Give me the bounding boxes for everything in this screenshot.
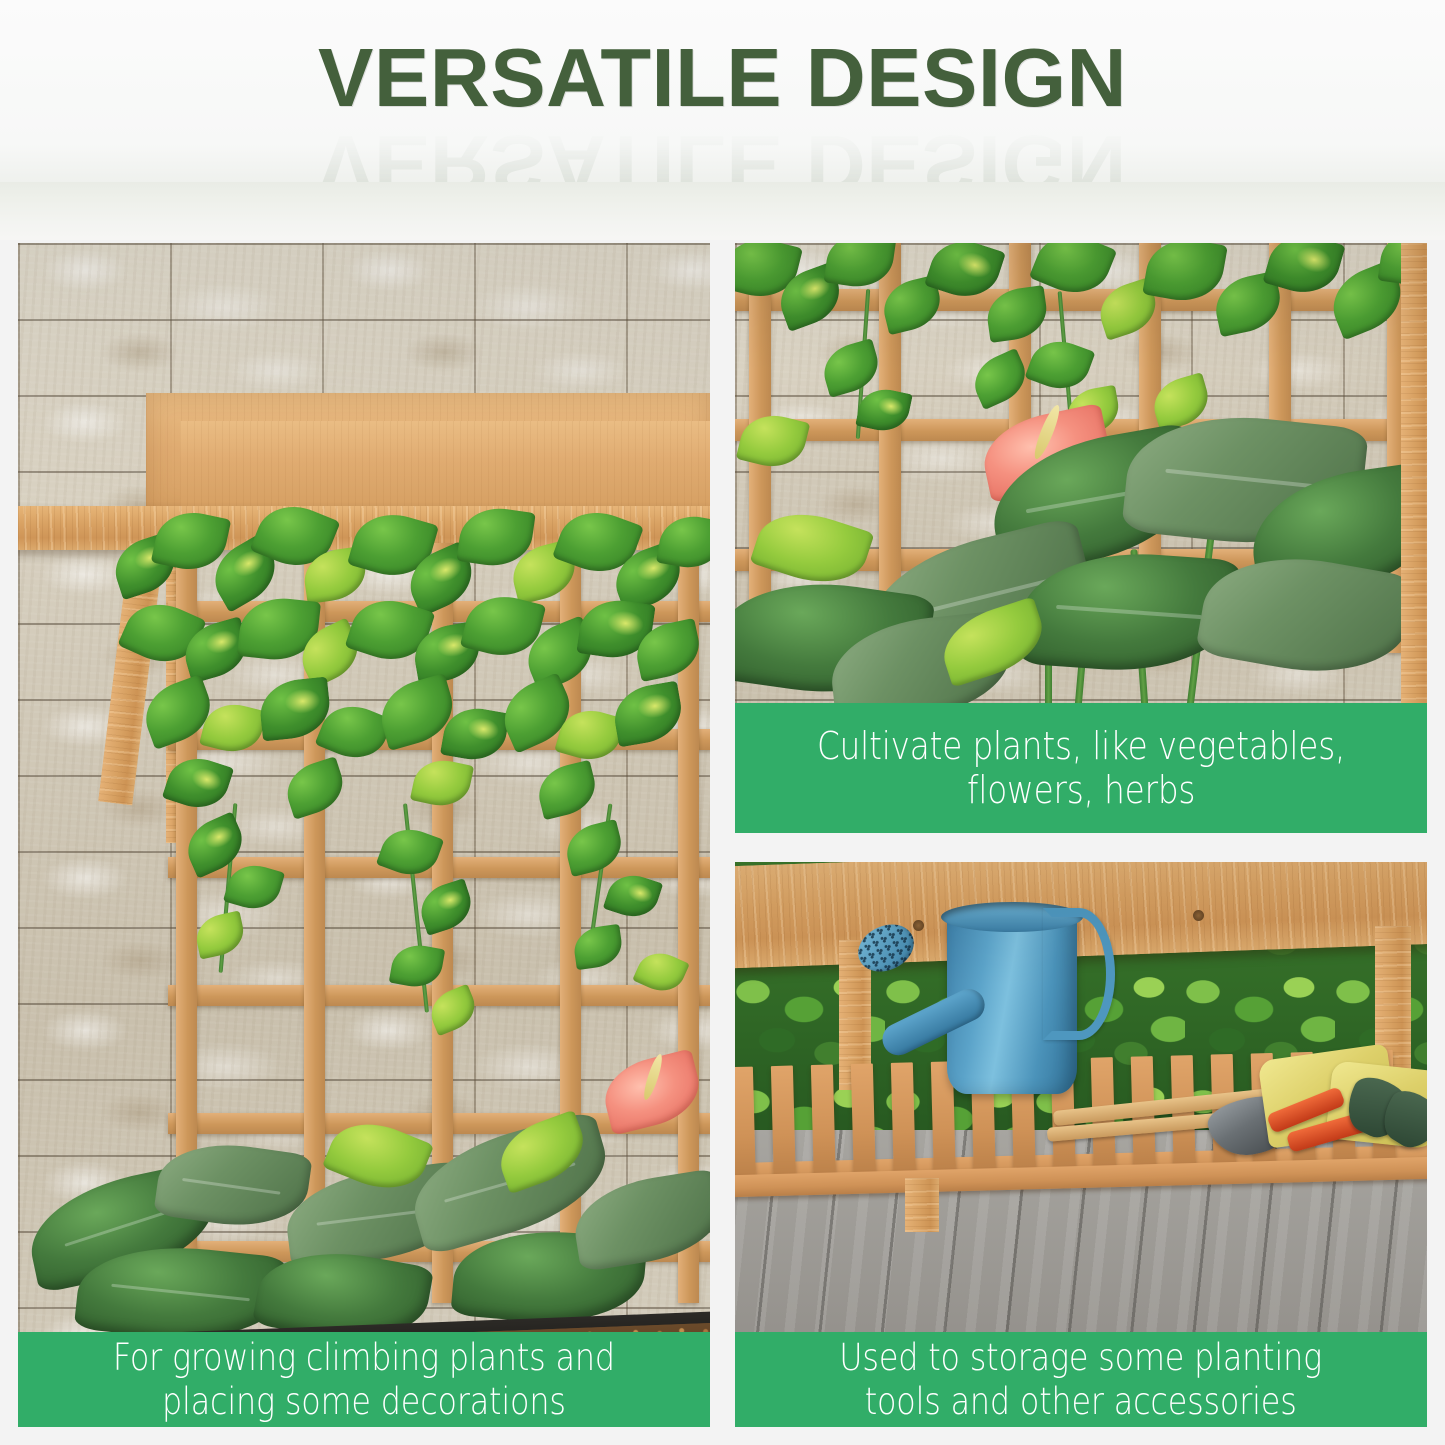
- product-feature-image: VERSATILE DESIGN VERSATILE DESIGN: [0, 0, 1445, 1445]
- header-floor-band: [0, 182, 1445, 240]
- caption-climbing-plants-text: For growing climbing plants and placing …: [113, 1336, 615, 1423]
- gardening-gloves-and-tools: [1243, 1050, 1427, 1180]
- screw-icon: [1193, 910, 1204, 921]
- caption-storage-tools-text: Used to storage some planting tools and …: [840, 1336, 1323, 1423]
- watering-can-handle: [1043, 908, 1115, 1040]
- trellis-right-post: [1401, 243, 1427, 783]
- caption-cultivate-plants: Cultivate plants, like vegetables, flowe…: [735, 703, 1427, 833]
- header-banner: VERSATILE DESIGN VERSATILE DESIGN: [0, 0, 1445, 240]
- climbing-pothos-cluster: [108, 498, 710, 828]
- climbing-plants-photo: [18, 243, 710, 1427]
- shelf-support-foot: [905, 1178, 939, 1232]
- climbing-plants-panel: [18, 243, 710, 1427]
- trowel-handle: [1047, 1112, 1228, 1142]
- page-title: VERSATILE DESIGN: [318, 36, 1127, 119]
- caption-climbing-plants: For growing climbing plants and placing …: [18, 1332, 710, 1427]
- caption-storage-tools: Used to storage some planting tools and …: [735, 1332, 1427, 1427]
- caption-cultivate-plants-text: Cultivate plants, like vegetables, flowe…: [817, 724, 1345, 813]
- page-title-wrap: VERSATILE DESIGN: [0, 36, 1445, 119]
- shelf-back-board-inner: [180, 421, 710, 509]
